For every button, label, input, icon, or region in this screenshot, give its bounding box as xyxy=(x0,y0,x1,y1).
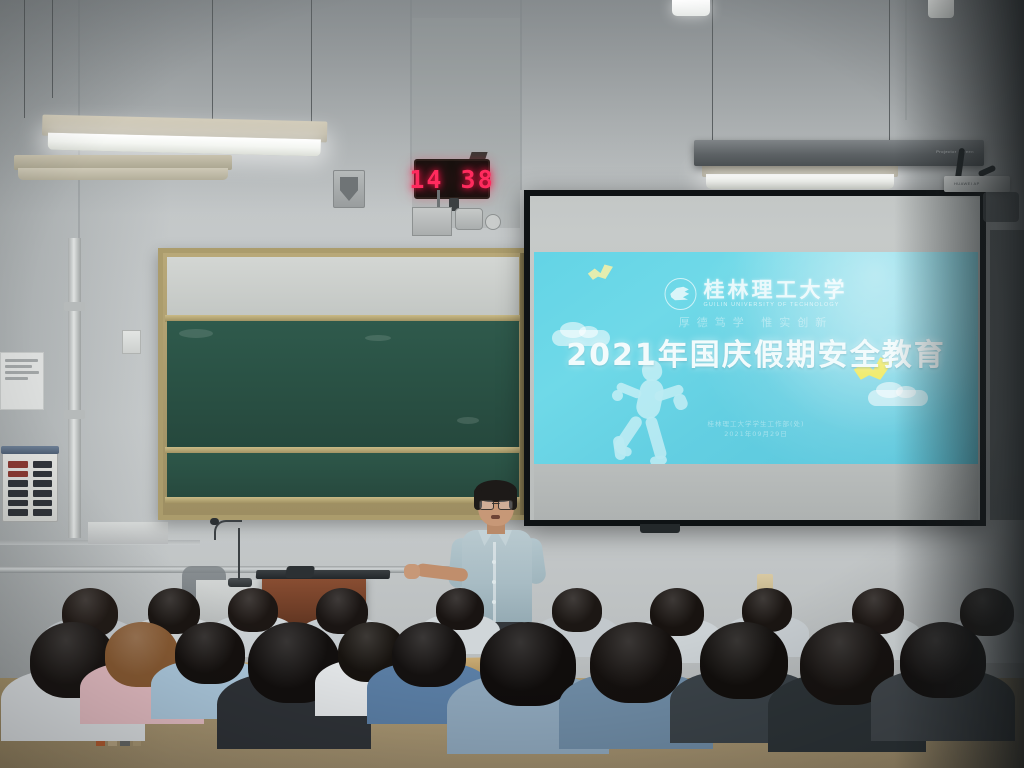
breaker-switch[interactable] xyxy=(33,509,53,516)
student-head xyxy=(552,588,602,632)
wall-sensor xyxy=(485,214,501,230)
student-head xyxy=(590,622,682,703)
wall-digital-clock: 14 38 xyxy=(414,159,490,199)
screen-bottom-weight xyxy=(640,524,680,533)
slide-footer: 桂林理工大学学生工作部(处) 2021年09月29日 xyxy=(707,420,804,440)
breaker-switch[interactable] xyxy=(8,509,28,516)
light-hanger-wire xyxy=(212,0,213,124)
breaker-switch[interactable] xyxy=(33,480,53,487)
breaker-switch[interactable] xyxy=(8,490,28,497)
wall-speaker xyxy=(333,170,365,208)
slide-title: 2021年国庆假期安全教育 xyxy=(566,330,946,374)
wall-junction-box xyxy=(412,207,452,236)
university-name-cn: 桂林理工大学 xyxy=(704,279,848,300)
breaker-switch[interactable] xyxy=(33,461,53,468)
light-hanger-wire xyxy=(311,0,312,122)
wall-shadow-right xyxy=(894,0,1024,768)
light-hanger-wire xyxy=(52,0,53,98)
light-hanger-wire xyxy=(712,0,713,160)
breaker-switch[interactable] xyxy=(33,471,53,478)
pipe-band xyxy=(64,410,85,419)
chalkboard-upper-white-panel xyxy=(167,257,519,319)
breaker-switch[interactable] xyxy=(8,480,28,487)
student-head xyxy=(175,622,245,684)
lecturer-mouth xyxy=(491,515,500,519)
pipe-band xyxy=(64,302,85,311)
breaker-switch[interactable] xyxy=(33,500,53,507)
breaker-switch[interactable] xyxy=(8,461,28,468)
wall-junction-box xyxy=(455,208,483,230)
light-hanger-wire xyxy=(24,0,25,118)
supply-shelf xyxy=(88,522,168,544)
clock-time: 14 38 xyxy=(409,165,494,194)
chalkboard-writing-surface xyxy=(167,321,519,447)
breaker-switch[interactable] xyxy=(33,490,53,497)
university-motto: 厚德笃学 惟实创新 xyxy=(679,314,834,330)
ceiling-tube-light-1 xyxy=(42,115,328,158)
microphone-head-icon xyxy=(210,518,219,525)
student-head xyxy=(700,622,788,699)
running-figure-silhouette xyxy=(612,360,690,466)
bird-top-left-icon xyxy=(586,261,615,284)
ceiling-tube-light-2 xyxy=(14,155,232,181)
wall-notice-poster xyxy=(0,352,44,410)
university-logo: 桂林理工大学 GUILIN UNIVERSITY OF TECHNOLOGY xyxy=(665,278,848,310)
wall-pipe xyxy=(68,238,81,538)
university-name-en: GUILIN UNIVERSITY OF TECHNOLOGY xyxy=(704,303,848,309)
light-switch-plate[interactable] xyxy=(122,330,141,354)
wall-seam xyxy=(410,0,412,170)
university-seal-icon xyxy=(665,278,697,310)
slide-footer-org: 桂林理工大学学生工作部(处) xyxy=(707,420,804,430)
wall-seam xyxy=(520,0,522,190)
glasses-icon xyxy=(479,500,513,508)
student-head xyxy=(228,588,278,632)
breaker-switch[interactable] xyxy=(8,471,28,478)
breaker-switch[interactable] xyxy=(8,500,28,507)
electrical-switch-panel[interactable] xyxy=(2,452,58,522)
ceiling-light-top-edge xyxy=(672,0,710,16)
seated-students xyxy=(0,560,1024,768)
switch-panel-lid xyxy=(1,446,59,454)
classroom-photo: 14 38 xyxy=(0,0,1024,768)
light-hanger-wire xyxy=(889,0,890,158)
slide-footer-date: 2021年09月29日 xyxy=(707,430,804,440)
student-head xyxy=(392,622,466,687)
